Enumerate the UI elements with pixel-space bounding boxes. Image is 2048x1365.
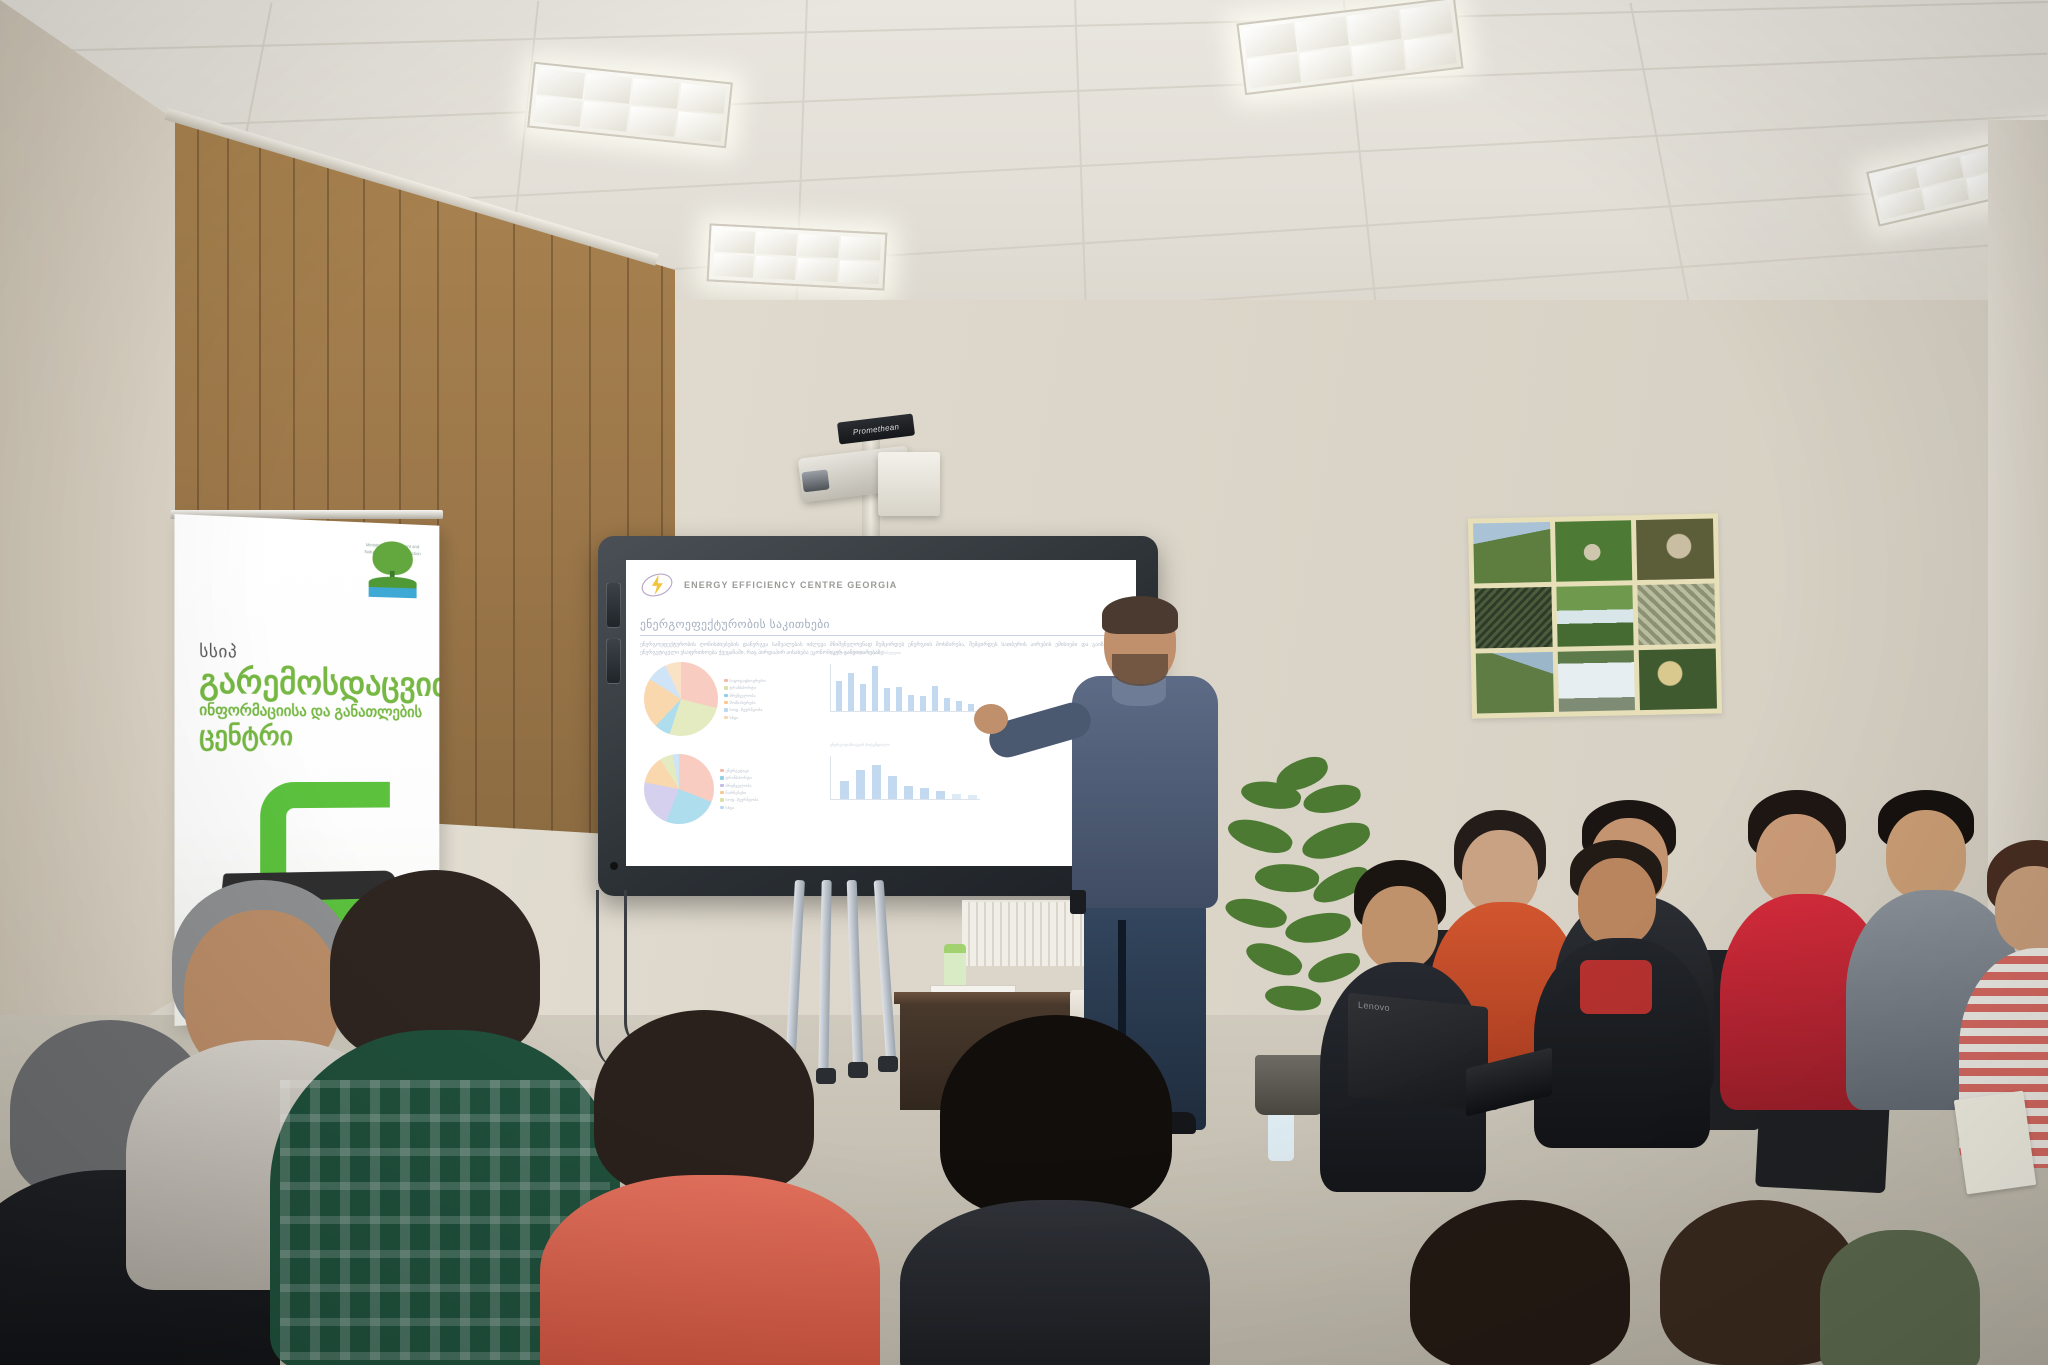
whiteboard-side-buttons[interactable] [606,582,621,694]
chart-pie-top: საყოფაცხოვრებო ტრანსპორტი მრეწველობა მომ… [644,662,766,736]
audience-member-foreground [1380,1200,1660,1365]
chart-bar-bottom: ენერგოდაზოგვის პოტენციალი [830,752,990,800]
notepad[interactable] [1954,1091,2037,1195]
pie-chart-top [644,662,718,736]
photo-forest-hillside [1473,522,1551,584]
projector-brand-label: Promethean [852,422,899,437]
audience-member-foreground [1640,1190,1940,1365]
projector-lens-icon [801,469,829,492]
bar-chart-bottom [830,756,980,800]
pie-chart-top-legend: საყოფაცხოვრებო ტრანსპორტი მრეწველობა მომ… [724,677,766,721]
left-wall [0,0,175,1100]
presenter-clicker[interactable] [1070,890,1086,914]
stand-caster [878,1056,898,1072]
ministry-logo-icon: Ministry of Environment and Natural Reso… [363,540,422,615]
banner-org-name-1: გარემოსდაცვითი [199,664,430,702]
banner-org-name-3: ცენტრი [199,720,430,752]
photo-grid [1468,513,1722,718]
photo-aerial-landscape [1476,652,1554,714]
photo-waterfall [1557,650,1635,712]
audience-member-foreground [300,870,580,1365]
chart-pie-bottom: ენერგეტიკა ტრანსპორტი მრეწველობა ნარჩენე… [644,754,759,824]
photo-dark-forest-canopy [1474,587,1552,649]
audience-member [1730,790,1860,1090]
logo-water-icon [369,587,417,598]
whiteboard-pen-button[interactable] [606,638,621,684]
slide-header: ENERGY EFFICIENCY CENTRE GEORGIA [640,570,1122,600]
room-scene: Promethean ENERGY EFFICIENCY CENTRE GEOR… [0,0,2048,1365]
banner-text-block: სსიპ გარემოსდაცვითი ინფორმაციისა და განა… [199,642,430,752]
whiteboard-power-led-icon [610,862,618,870]
bar-chart-top [830,664,980,712]
photo-aerial-village [1555,520,1633,582]
slide-title-rule [640,635,1122,636]
photo-aerial-rocky-terrain [1636,519,1714,581]
photo-lichen-rocks [1638,583,1716,645]
bar-top-caption: ენერგომოხმარება წლების მიხედვით [830,650,990,656]
plant-pot [1255,1055,1325,1115]
banner-org-name-2: ინფორმაციისა და განათლების [199,700,430,720]
audience-member [1540,820,1680,1120]
laptop[interactable]: Lenovo [1338,1000,1538,1130]
slide-org-header: ENERGY EFFICIENCY CENTRE GEORGIA [684,580,897,590]
stand-caster [848,1062,868,1078]
photo-aerial-river-delta [1639,648,1717,710]
pie-chart-bottom [644,754,714,824]
ceiling-light-panel [707,223,888,290]
laptop-brand-label: Lenovo [1358,1000,1390,1013]
slide-title: ენერგოეფექტურობის საკითხები [640,617,1122,631]
chart-bar-top: ენერგომოხმარება წლების მიხედვით [830,660,990,712]
slide-charts: საყოფაცხოვრებო ტრანსპორტი მრეწველობა მომ… [640,656,1122,844]
presenter-hand [974,704,1008,734]
audience-member-foreground [560,1010,850,1365]
photo-winding-river-meadow [1556,585,1634,647]
presenter-torso [1072,676,1218,908]
pie-chart-bottom-legend: ენერგეტიკა ტრანსპორტი მრეწველობა ნარჩენე… [720,767,759,811]
audience-member-foreground [900,1015,1200,1365]
energy-centre-logo-icon [640,570,674,600]
whiteboard-menu-button[interactable] [606,582,621,628]
right-wall-edge [1988,120,2048,920]
bar-bottom-caption: ენერგოდაზოგვის პოტენციალი [830,742,990,748]
projector-side-plate [878,452,940,516]
